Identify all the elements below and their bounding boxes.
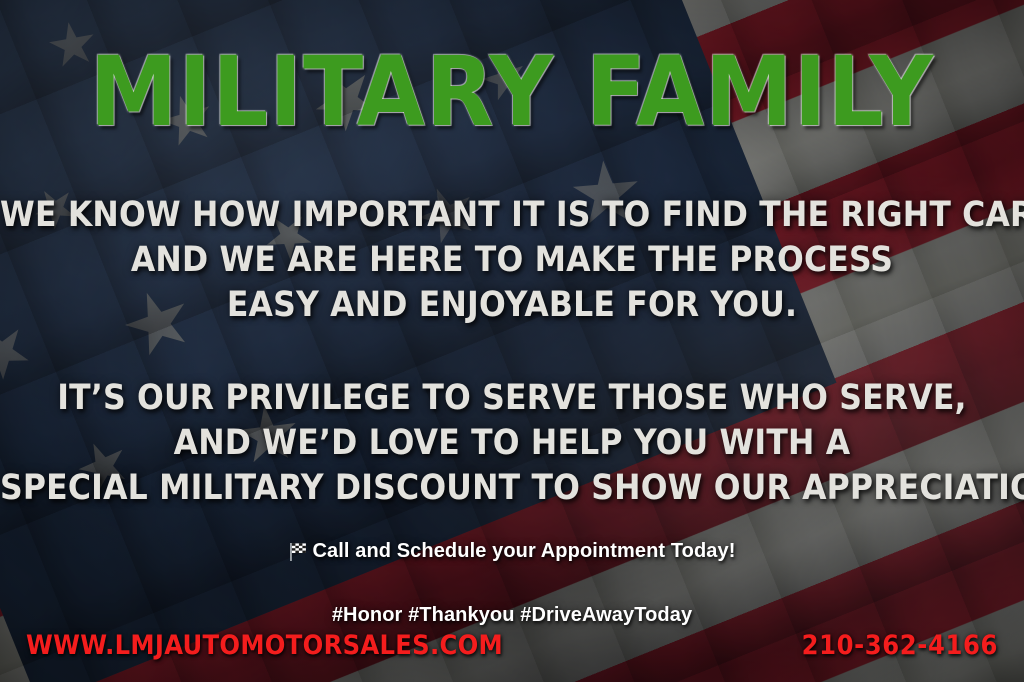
footer-bar: WWW.LMJAUTOMOTORSALES.COM 210-362-4166: [0, 630, 1024, 670]
poster-content: MILITARY FAMILY WE KNOW HOW IMPORTANT IT…: [0, 0, 1024, 682]
message-line: AND WE ARE HERE TO MAKE THE PROCESS: [0, 238, 1024, 283]
message-paragraph-1: WE KNOW HOW IMPORTANT IT IS TO FIND THE …: [0, 193, 1024, 327]
message-line: WE KNOW HOW IMPORTANT IT IS TO FIND THE …: [0, 193, 1024, 238]
website-link[interactable]: WWW.LMJAUTOMOTORSALES.COM: [26, 630, 503, 661]
page-title: MILITARY FAMILY: [0, 44, 1024, 142]
message-paragraph-2: IT’S OUR PRIVILEGE TO SERVE THOSE WHO SE…: [0, 376, 1024, 510]
message-line: EASY AND ENJOYABLE FOR YOU.: [0, 283, 1024, 328]
message-line: SPECIAL MILITARY DISCOUNT TO SHOW OUR AP…: [0, 466, 1024, 511]
message-line: AND WE’D LOVE TO HELP YOU WITH A: [0, 421, 1024, 466]
message-line: IT’S OUR PRIVILEGE TO SERVE THOSE WHO SE…: [0, 376, 1024, 421]
call-to-action: Call and Schedule your Appointment Today…: [0, 540, 1024, 563]
military-family-promo-poster: MILITARY FAMILY WE KNOW HOW IMPORTANT IT…: [0, 0, 1024, 682]
phone-number[interactable]: 210-362-4166: [802, 630, 998, 661]
checkered-flag-icon: [288, 541, 310, 563]
hashtags: #Honor #Thankyou #DriveAwayToday: [0, 604, 1024, 627]
call-to-action-label: Call and Schedule your Appointment Today…: [312, 540, 735, 563]
